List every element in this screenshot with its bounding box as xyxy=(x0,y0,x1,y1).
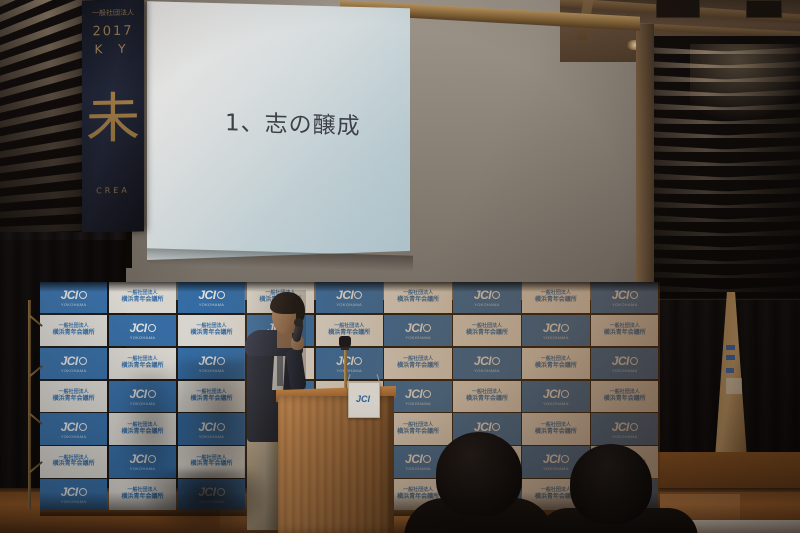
stand-post xyxy=(28,300,31,510)
louver-wall-highlight xyxy=(690,44,800,124)
flag-marking xyxy=(726,355,735,360)
audience-member-front-left-head xyxy=(436,432,522,516)
microphone-on-stand-icon xyxy=(339,336,351,347)
stand-brace xyxy=(29,315,43,327)
slide-title: 1、志の醸成 xyxy=(225,103,361,141)
flag-marking xyxy=(726,368,734,373)
stand-brace xyxy=(29,461,43,473)
banner-stand-frame xyxy=(26,300,46,510)
stand-brace xyxy=(29,365,43,377)
roll-up-banner-shading xyxy=(82,0,144,233)
audience-silhouette-blur xyxy=(146,470,266,533)
flag-marking xyxy=(726,345,735,350)
ceiling-fixture xyxy=(656,0,700,18)
stand-brace xyxy=(29,413,43,425)
podium-sign-logo: JCI xyxy=(352,392,374,406)
slide-content: 1、志の醸成 xyxy=(147,0,410,260)
flag-label xyxy=(726,378,742,394)
conference-stage-photo: 1、志の醸成 一般社団法人 2017 K Y 未 CREA JCIYOKOHAM… xyxy=(0,0,800,533)
audience-member-front-right-head xyxy=(570,444,652,524)
podium-sign-logo-text: JCI xyxy=(356,394,370,404)
ceiling-fixture xyxy=(746,0,782,18)
backdrop-top-shadow xyxy=(40,282,660,292)
